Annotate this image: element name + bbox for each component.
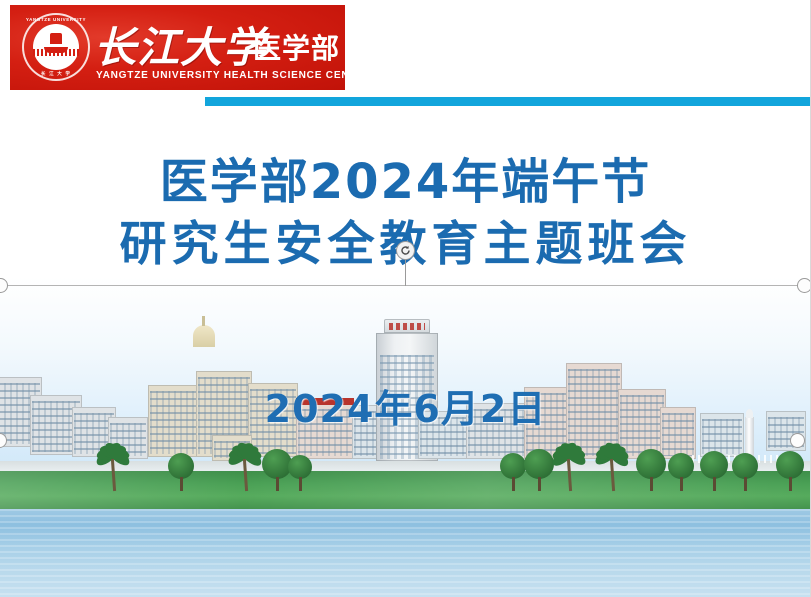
palm-tree bbox=[552, 439, 586, 479]
tree bbox=[524, 449, 554, 479]
rotate-handle-stem bbox=[405, 258, 406, 286]
palm-tree bbox=[596, 441, 628, 479]
university-logo-banner: YANGTZE UNIVERSITY 长 江 大 学 长江大学 医学部 YANG… bbox=[10, 5, 345, 90]
emblem-top-text: YANGTZE UNIVERSITY bbox=[22, 17, 90, 22]
emblem-band bbox=[33, 49, 79, 56]
logo-department-name: 医学部 bbox=[253, 27, 340, 67]
palm-tree bbox=[228, 439, 262, 479]
building-dome bbox=[193, 325, 215, 347]
tree bbox=[500, 453, 526, 479]
tree bbox=[776, 451, 804, 479]
slide-title-line1: 医学部2024年端午节 bbox=[0, 150, 811, 214]
campus-panorama-photo bbox=[0, 277, 811, 597]
slide-date-text: 2024年6月2日 bbox=[0, 378, 811, 433]
presentation-slide: YANGTZE UNIVERSITY 长 江 大 学 长江大学 医学部 YANG… bbox=[0, 0, 811, 597]
lake-water bbox=[0, 509, 811, 597]
tree bbox=[732, 453, 758, 479]
central-tower-sign bbox=[389, 323, 425, 330]
tree bbox=[168, 453, 194, 479]
tree bbox=[700, 451, 728, 479]
tree bbox=[288, 455, 312, 479]
header-divider-rule bbox=[205, 97, 811, 106]
tree bbox=[668, 453, 694, 479]
emblem-bottom-text: 长 江 大 学 bbox=[22, 71, 90, 77]
logo-english-name: YANGTZE UNIVERSITY HEALTH SCIENCE CENTER bbox=[96, 69, 345, 81]
resize-handle-bottom-right[interactable] bbox=[791, 434, 804, 447]
palm-tree bbox=[96, 439, 130, 479]
university-emblem-icon: YANGTZE UNIVERSITY 长 江 大 学 bbox=[22, 13, 90, 81]
tree bbox=[636, 449, 666, 479]
logo-university-name: 长江大学 bbox=[94, 14, 266, 75]
rotate-handle-icon[interactable] bbox=[397, 242, 414, 259]
